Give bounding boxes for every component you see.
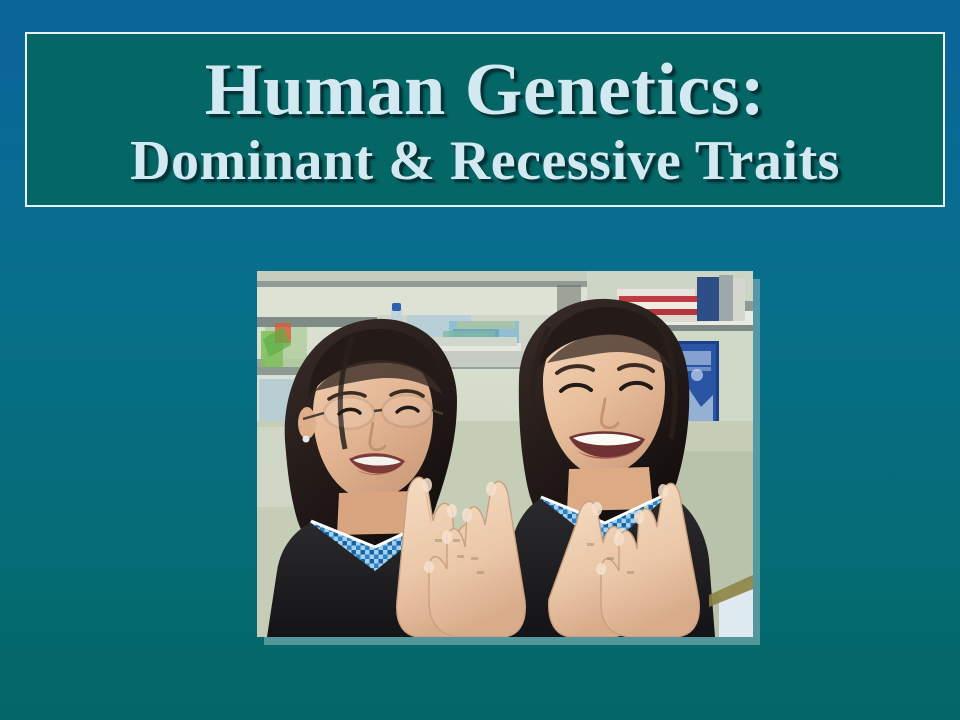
classroom-photo xyxy=(257,271,753,637)
page-title: Human Genetics: xyxy=(205,53,765,127)
photo-frame xyxy=(257,271,753,637)
title-box: Human Genetics: Dominant & Recessive Tra… xyxy=(25,32,945,207)
slide-canvas: Human Genetics: Dominant & Recessive Tra… xyxy=(0,0,960,720)
photo-alt-text: Two smiling schoolgirls in dark uniforms… xyxy=(0,0,1,1)
page-subtitle: Dominant & Recessive Traits xyxy=(130,133,840,189)
